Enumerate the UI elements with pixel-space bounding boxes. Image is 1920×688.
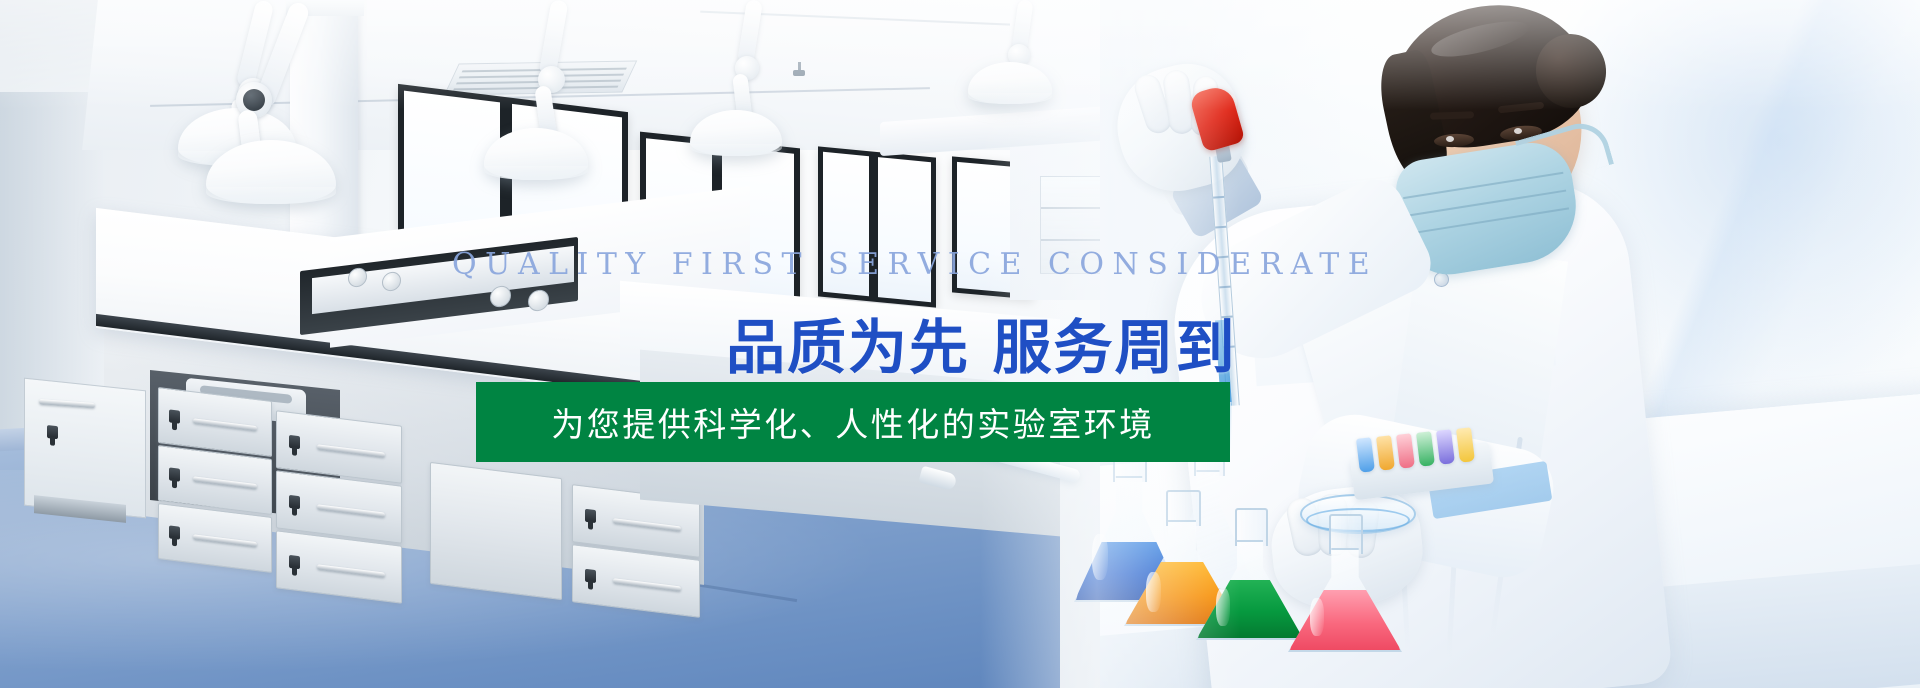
hero-banner: 为您提供科学化、人性化的实验室环境 QUALITY FIRST SERVICE … [0, 0, 1920, 688]
cabinet-handle [317, 564, 385, 577]
cabinet-lock-icon [585, 509, 596, 523]
eye-highlight [1514, 128, 1522, 134]
cabinet-handle [193, 476, 257, 489]
cabinet-door [430, 462, 562, 600]
cabinet-handle [193, 418, 257, 431]
cabinet-handle [613, 578, 681, 591]
cabinet-lock-icon [169, 409, 180, 423]
eye-highlight [1446, 136, 1454, 142]
subheadline-text: 为您提供科学化、人性化的实验室环境 [551, 398, 1155, 446]
cabinet-handle [317, 504, 385, 517]
erlenmeyer-flask-pink [1288, 548, 1402, 652]
cabinet-handle [317, 444, 385, 457]
top-sheen [0, 0, 1920, 110]
cabinet-handle [193, 534, 257, 547]
cabinet-lock-icon [289, 435, 300, 449]
subheadline-band: 为您提供科学化、人性化的实验室环境 [476, 382, 1230, 462]
cabinet-lock-icon [169, 467, 180, 481]
cabinet-lock-icon [169, 525, 180, 539]
cabinet-lock-icon [47, 425, 58, 439]
cabinet-lock-icon [289, 495, 300, 509]
window [818, 146, 936, 307]
cabinet-lock-icon [289, 555, 300, 569]
cabinet-handle [39, 399, 95, 408]
cabinet-handle [613, 518, 681, 531]
cabinet-lock-icon [585, 569, 596, 583]
